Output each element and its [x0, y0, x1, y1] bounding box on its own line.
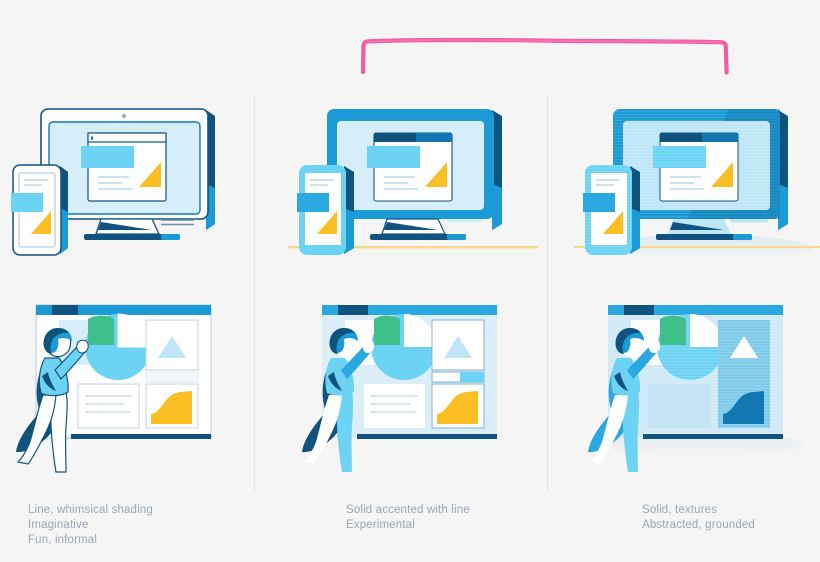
devices-scene-solid: [292, 96, 547, 276]
caption-texture-style: Solid, textures Abstracted, grounded: [642, 503, 755, 533]
dashboard-scene-line: [6, 292, 261, 487]
devices-scene-line: [6, 96, 261, 276]
column-divider-2: [547, 95, 548, 491]
caption-line-style: Line, whimsical shading Imaginative Fun,…: [28, 503, 153, 548]
style-column-texture: Solid, textures Abstracted, grounded: [578, 0, 820, 562]
devices-scene-texture: [578, 96, 820, 276]
style-column-solid: Solid accented with line Experimental: [292, 0, 547, 562]
illustration-board: Line, whimsical shading Imaginative Fun,…: [0, 0, 820, 562]
caption-solid-style: Solid accented with line Experimental: [346, 503, 470, 533]
style-column-line: Line, whimsical shading Imaginative Fun,…: [6, 0, 261, 562]
dashboard-scene-solid: [292, 292, 547, 487]
dashboard-scene-texture: [578, 292, 820, 487]
